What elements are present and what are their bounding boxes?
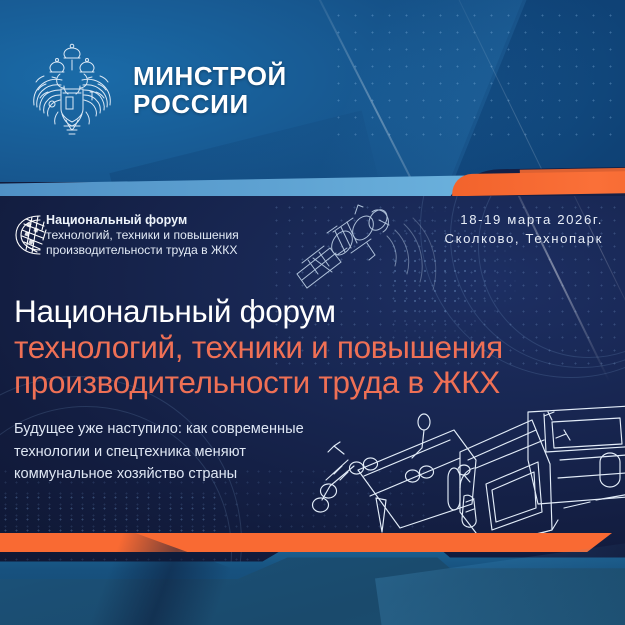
forum-logo-line3: производительности труда в ЖКХ (46, 243, 239, 258)
bottom-left-dot-pattern (0, 492, 220, 534)
headline-line2: технологий, техники и повышения (14, 330, 503, 366)
header-banner: МИНСТРОЙ РОССИИ (0, 0, 625, 182)
page-title: Национальный форум технологий, техники и… (14, 294, 503, 401)
header-diagonal-shadow (109, 110, 390, 182)
event-venue: Сколково, Технопарк (444, 229, 603, 248)
russian-coat-of-arms-icon (22, 42, 122, 142)
forum-logo-line2: технологий, техники и повышения (46, 228, 239, 243)
subtitle: Будущее уже наступило: как современные т… (14, 418, 304, 486)
ministry-name-line2: РОССИИ (133, 90, 287, 118)
forum-logo-text: Национальный форум технологий, техники и… (46, 213, 239, 257)
event-details: 18-19 марта 2026г. Сколково, Технопарк (444, 210, 603, 248)
header-dot-pattern (330, 0, 625, 140)
subtitle-line2: технологии и спецтехника меняют (14, 441, 304, 464)
ministry-name-line1: МИНСТРОЙ (133, 62, 287, 90)
subtitle-line3: коммунальное хозяйство страны (14, 463, 304, 486)
subtitle-line1: Будущее уже наступило: как современные (14, 418, 304, 441)
orange-accent-band (452, 170, 625, 197)
headline-line3: производительности труда в ЖКХ (14, 365, 503, 401)
poster-canvas: МИНСТРОЙ РОССИИ (0, 0, 625, 625)
ministry-name: МИНСТРОЙ РОССИИ (133, 62, 287, 118)
bottom-orange-band (0, 533, 612, 552)
forum-logo-line1: Национальный форум (46, 213, 239, 228)
event-date: 18-19 марта 2026г. (444, 210, 603, 229)
headline-line1: Национальный форум (14, 294, 503, 330)
